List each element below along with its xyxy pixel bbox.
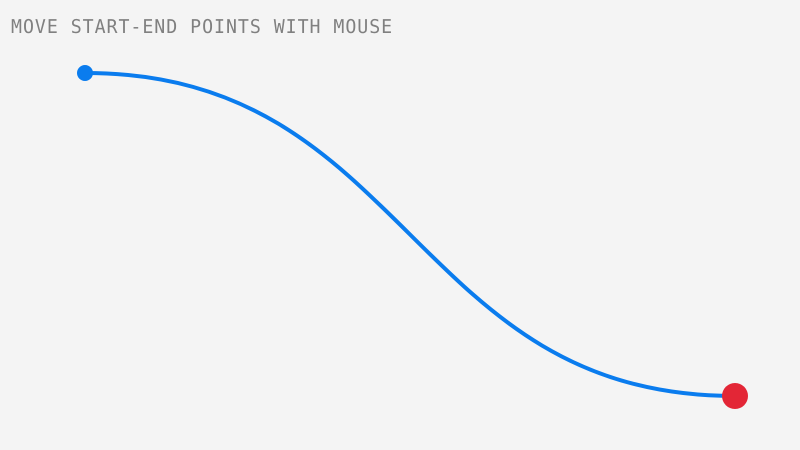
app-root: MOVE START-END POINTS WITH MOUSE bbox=[0, 0, 800, 450]
bezier-curve bbox=[85, 73, 735, 396]
bezier-svg bbox=[0, 0, 800, 450]
start-point-handle[interactable] bbox=[77, 65, 93, 81]
bezier-canvas[interactable] bbox=[0, 0, 800, 450]
end-point-handle[interactable] bbox=[722, 383, 748, 409]
